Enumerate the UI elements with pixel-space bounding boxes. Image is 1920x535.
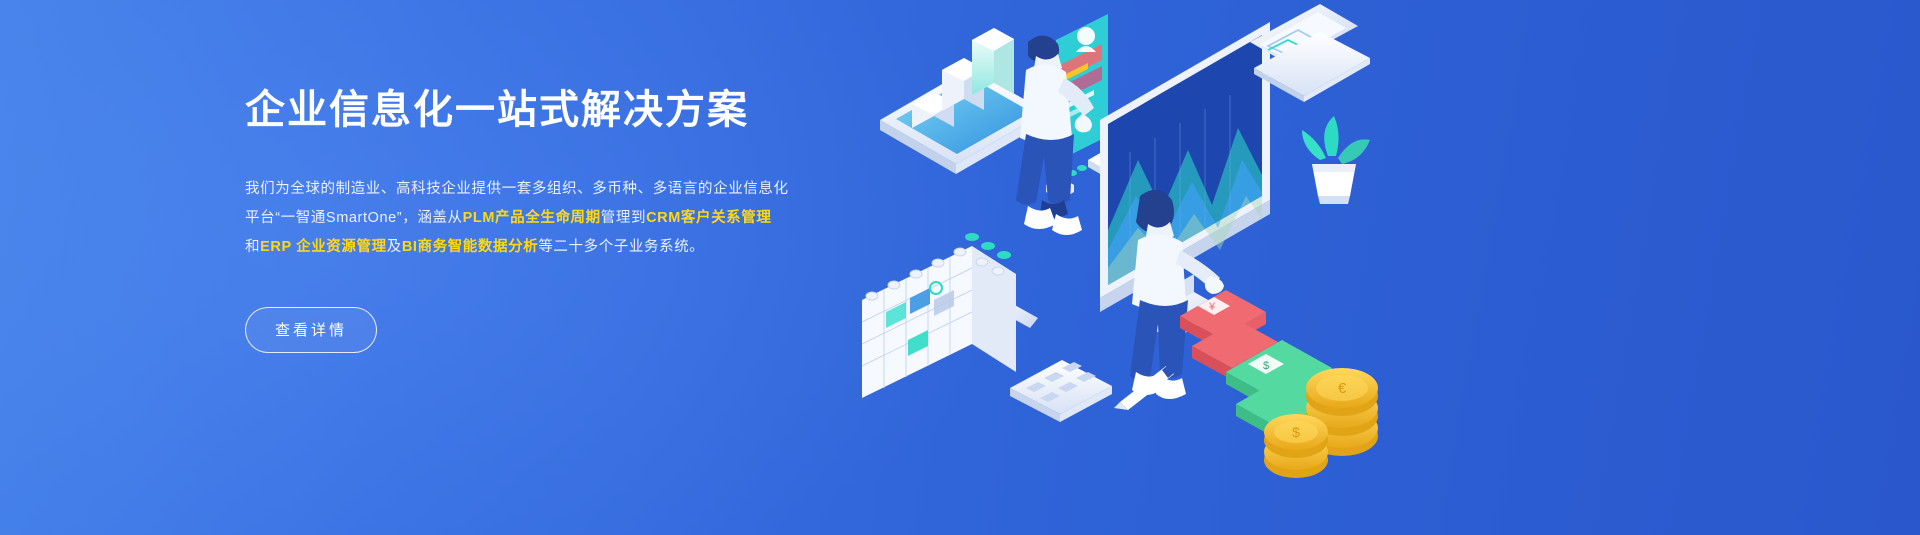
desc2-text-a: 平台“一智通SmartOne”，涵盖从 xyxy=(245,210,463,226)
desc3-text-b: 及 xyxy=(387,239,402,255)
svg-text:¥: ¥ xyxy=(1208,301,1216,313)
highlight-bi: BI商务智能数据分析 xyxy=(402,239,539,255)
svg-text:€: € xyxy=(1338,380,1347,397)
view-details-button[interactable]: 查看详情 xyxy=(245,307,377,353)
description-line-1: 我们为全球的制造业、高科技企业提供一套多组织、多币种、多语言的企业信息化 xyxy=(245,175,805,204)
desc3-text-a: 和 xyxy=(245,239,260,255)
svg-text:$: $ xyxy=(1292,424,1300,440)
highlight-plm: PLM产品全生命周期 xyxy=(463,210,601,226)
hero-description: 我们为全球的制造业、高科技企业提供一套多组织、多币种、多语言的企业信息化 平台“… xyxy=(245,175,805,262)
desk-calendar xyxy=(862,246,1016,398)
desc3-text-c: 等二十多个子业务系统。 xyxy=(538,239,704,255)
page-title: 企业信息化一站式解决方案 xyxy=(245,86,805,135)
potted-plant xyxy=(1302,116,1370,204)
calculator xyxy=(1010,360,1112,422)
hero-copy: 企业信息化一站式解决方案 我们为全球的制造业、高科技企业提供一套多组织、多币种、… xyxy=(245,86,805,353)
highlight-erp: ERP 企业资源管理 xyxy=(260,239,387,255)
description-line-2: 平台“一智通SmartOne”，涵盖从PLM产品全生命周期管理到CRM客户关系管… xyxy=(245,204,805,233)
hero-banner: 企业信息化一站式解决方案 我们为全球的制造业、高科技企业提供一套多组织、多币种、… xyxy=(0,0,1920,535)
svg-text:$: $ xyxy=(1263,360,1269,372)
tablet-bar-chart xyxy=(880,28,1046,174)
highlight-crm: CRM客户关系管理 xyxy=(646,210,771,226)
hero-illustration: ¥ $ xyxy=(850,0,1410,535)
desc2-text-b: 管理到 xyxy=(601,210,646,226)
description-line-3: 和ERP 企业资源管理及BI商务智能数据分析等二十多个子业务系统。 xyxy=(245,233,805,262)
